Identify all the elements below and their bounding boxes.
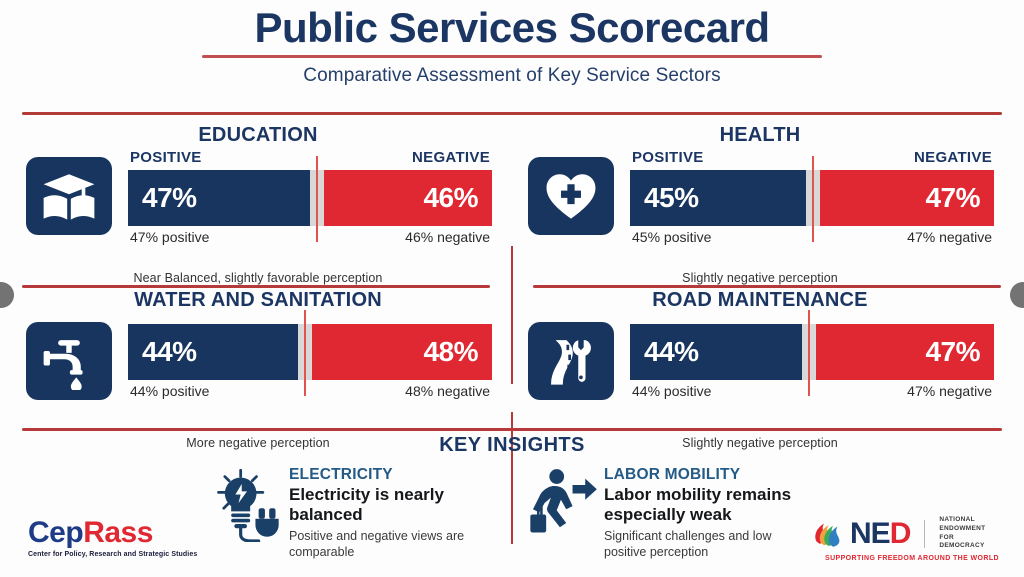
- ned-logo: NED NATIONAL ENDOWMENT FOR DEMOCRACY SUP…: [812, 516, 1012, 562]
- ned-logo-tagline: SUPPORTING FREEDOM AROUND THE WORLD: [812, 555, 1012, 562]
- negative-sublabel: 46% negative: [405, 229, 490, 245]
- insight-electricity[interactable]: ELECTRICITY Electricity is nearly balanc…: [205, 462, 505, 560]
- insight-labor-mobility[interactable]: LABOR MOBILITY Labor mobility remains es…: [520, 462, 840, 560]
- sector-panel-health[interactable]: HEALTH POSITIVE NEGATIVE 45%: [520, 123, 1000, 273]
- diverging-bar: 45% 47%: [630, 170, 994, 226]
- lightbulb-plug-icon: [205, 462, 289, 546]
- ceprass-logo-part2: Rass: [83, 516, 153, 549]
- sector-panel-road-maintenance[interactable]: ROAD MAINTENANCE 44%: [520, 288, 1000, 438]
- insight-body: Positive and negative views are comparab…: [289, 529, 489, 560]
- positive-bar: 45%: [630, 170, 806, 226]
- negative-bar: 46%: [324, 170, 492, 226]
- insight-kicker: LABOR MOBILITY: [604, 466, 809, 484]
- sector-panel-water-and-sanitation[interactable]: WATER AND SANITATION 44%: [18, 288, 498, 438]
- bar-sublabels: 47% positive 46% negative: [128, 228, 492, 250]
- positive-value: 44%: [644, 336, 699, 368]
- positive-sublabel: 47% positive: [130, 229, 209, 245]
- traveler-arrow-icon: [520, 462, 604, 546]
- insights-divider: [22, 428, 1002, 431]
- ned-subtitle-line3: FOR: [939, 534, 985, 543]
- sector-title: WATER AND SANITATION: [18, 288, 498, 312]
- positive-value: 45%: [644, 182, 699, 214]
- bar-block: 44% 48% 44% positive 48% negative: [128, 312, 492, 404]
- road-wrench-icon: [528, 322, 614, 400]
- graduation-cap-icon: [26, 157, 112, 235]
- negative-value: 47%: [925, 336, 980, 368]
- negative-sublabel: 47% negative: [907, 229, 992, 245]
- ned-flame-icon: [812, 519, 842, 549]
- header: Public Services Scorecard Comparative As…: [0, 6, 1024, 87]
- positive-bar: 44%: [128, 324, 298, 380]
- positive-sublabel: 44% positive: [130, 383, 209, 399]
- positive-value: 47%: [142, 182, 197, 214]
- column-divider-top: [511, 246, 513, 384]
- ceprass-logo-tagline: Center for Policy, Research and Strategi…: [28, 551, 208, 558]
- row-divider-left: [22, 285, 490, 288]
- heart-plus-icon: [528, 157, 614, 235]
- negative-value: 46%: [423, 182, 478, 214]
- negative-bar: 48%: [312, 324, 492, 380]
- ned-subtitle-line2: ENDOWMENT: [939, 525, 985, 534]
- sector-title: HEALTH: [520, 123, 1000, 147]
- sector-verdict: Near Balanced, slightly favorable percep…: [18, 271, 498, 285]
- ned-subtitle-line1: NATIONAL: [939, 516, 985, 525]
- insight-kicker: ELECTRICITY: [289, 466, 494, 484]
- negative-caption: NEGATIVE: [412, 149, 490, 166]
- positive-caption: POSITIVE: [130, 149, 202, 166]
- negative-value: 47%: [925, 182, 980, 214]
- diverging-bar: 47% 46%: [128, 170, 492, 226]
- negative-value: 48%: [423, 336, 478, 368]
- ned-letter-d: D: [890, 517, 911, 550]
- bar-block: 44% 47% 44% positive 47% negative: [630, 312, 994, 404]
- positive-sublabel: 44% positive: [632, 383, 711, 399]
- diverging-bar: 44% 47%: [630, 324, 994, 380]
- bar-captions: POSITIVE NEGATIVE: [128, 147, 492, 169]
- bar-sublabels: 45% positive 47% negative: [630, 228, 994, 250]
- insight-headline: Electricity is nearly balanced: [289, 485, 494, 525]
- sector-title: ROAD MAINTENANCE: [520, 288, 1000, 312]
- ned-subtitle-line4: DEMOCRACY: [939, 542, 985, 551]
- faucet-drop-icon: [26, 322, 112, 400]
- insight-body: Significant challenges and low positive …: [604, 529, 804, 560]
- scorecard-infographic: Public Services Scorecard Comparative As…: [0, 0, 1024, 577]
- positive-bar: 44%: [630, 324, 802, 380]
- positive-bar: 47%: [128, 170, 310, 226]
- bar-sublabels: 44% positive 48% negative: [128, 382, 492, 404]
- insight-headline: Labor mobility remains especially weak: [604, 485, 809, 525]
- ned-letter-n: N: [850, 517, 871, 550]
- ned-letter-e: E: [871, 517, 890, 550]
- header-divider: [22, 112, 1002, 115]
- positive-value: 44%: [142, 336, 197, 368]
- row-divider-right: [533, 285, 1001, 288]
- sector-grid: EDUCATION POSITIVE NEGATIVE: [0, 120, 1024, 425]
- positive-caption: POSITIVE: [632, 149, 704, 166]
- bar-sublabels: 44% positive 47% negative: [630, 382, 994, 404]
- key-insights-heading: KEY INSIGHTS: [0, 434, 1024, 457]
- sector-title: EDUCATION: [18, 123, 498, 147]
- sector-panel-education[interactable]: EDUCATION POSITIVE NEGATIVE: [18, 123, 498, 273]
- negative-sublabel: 47% negative: [907, 383, 992, 399]
- bar-block: POSITIVE NEGATIVE 47% 46%: [128, 147, 492, 250]
- negative-bar: 47%: [820, 170, 994, 226]
- title-underline: [202, 55, 822, 58]
- page-subtitle: Comparative Assessment of Key Service Se…: [0, 65, 1024, 87]
- positive-sublabel: 45% positive: [632, 229, 711, 245]
- ceprass-logo-part1: Cep: [28, 516, 83, 549]
- page-title: Public Services Scorecard: [0, 6, 1024, 50]
- diverging-bar: 44% 48%: [128, 324, 492, 380]
- negative-bar: 47%: [816, 324, 994, 380]
- negative-caption: NEGATIVE: [914, 149, 992, 166]
- bar-block: POSITIVE NEGATIVE 45% 47%: [630, 147, 994, 250]
- negative-sublabel: 48% negative: [405, 383, 490, 399]
- ned-logo-separator: [924, 520, 925, 548]
- sector-verdict: Slightly negative perception: [520, 271, 1000, 285]
- ceprass-logo: CepRass Center for Policy, Research and …: [28, 518, 208, 558]
